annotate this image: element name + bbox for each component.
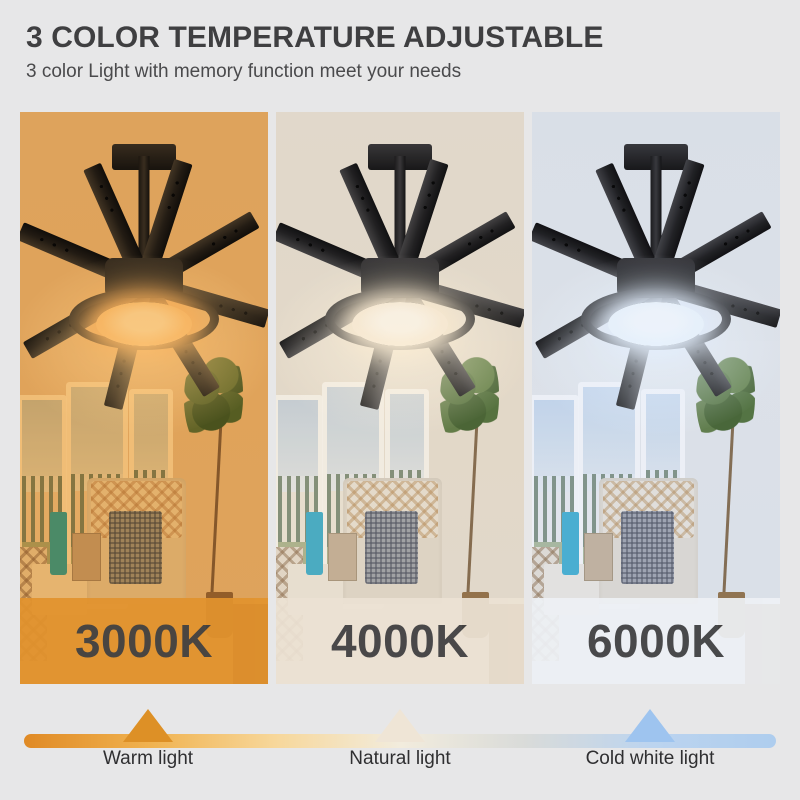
panel-3000k[interactable]: 3000K: [20, 112, 268, 684]
sofa: [343, 478, 442, 604]
temperature-band: 6000K: [532, 598, 780, 684]
color-temperature-panel-row: 3000K: [20, 112, 780, 684]
throw-pillow: [621, 511, 675, 584]
picture-frame: [584, 533, 613, 581]
sofa: [87, 478, 186, 604]
picture-frame: [72, 533, 101, 581]
sofa: [599, 478, 698, 604]
legend-natural-light: Natural light: [349, 748, 450, 770]
temperature-band: 3000K: [20, 598, 268, 684]
page-subtitle: 3 color Light with memory function meet …: [26, 62, 774, 83]
picture-frame: [328, 533, 357, 581]
fan-light-lens: [352, 302, 448, 346]
panel-6000k[interactable]: 6000K: [532, 112, 780, 684]
temperature-label: 4000K: [331, 618, 469, 664]
fan-light-lens: [96, 302, 192, 346]
temperature-band: 4000K: [276, 598, 524, 684]
blue-vase: [562, 512, 579, 575]
blue-vase: [306, 512, 323, 575]
cold-marker-icon[interactable]: [625, 709, 675, 742]
panel-4000k[interactable]: 4000K: [276, 112, 524, 684]
throw-pillow: [365, 511, 419, 584]
temperature-label: 3000K: [75, 618, 213, 664]
header: 3 COLOR TEMPERATURE ADJUSTABLE 3 color L…: [26, 22, 774, 82]
page-title: 3 COLOR TEMPERATURE ADJUSTABLE: [26, 22, 774, 54]
blue-vase: [50, 512, 67, 575]
legend-cold-white-light: Cold white light: [586, 748, 715, 770]
legend-warm-light: Warm light: [103, 748, 193, 770]
fan-light-lens: [608, 302, 704, 346]
throw-pillow: [109, 511, 163, 584]
temperature-label: 6000K: [587, 618, 725, 664]
warm-marker-icon[interactable]: [123, 709, 173, 742]
slider-legend: Warm light Natural light Cold white ligh…: [0, 748, 800, 784]
natural-marker-icon[interactable]: [375, 709, 425, 742]
